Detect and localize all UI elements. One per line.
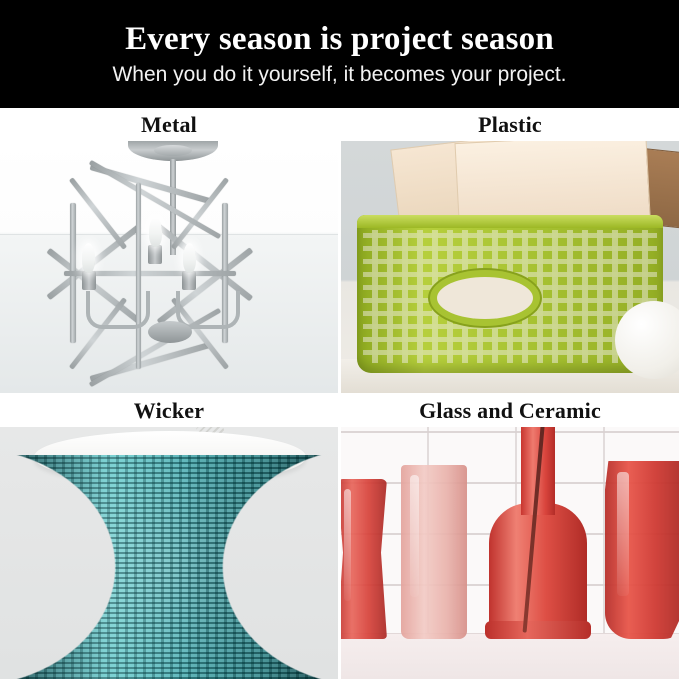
category-label-metal: Metal [0,108,338,141]
pink-cylinder-vase [401,465,467,639]
category-label-plastic: Plastic [341,108,679,141]
category-image-glass-ceramic [341,427,679,679]
category-label-glass-ceramic: Glass and Ceramic [341,394,679,427]
wicker-stool-shape [8,455,330,679]
category-image-metal [0,141,338,393]
bottle-body [489,503,587,639]
page-subtitle: When you do it yourself, it becomes your… [112,62,566,88]
category-image-wicker [0,427,338,679]
category-cell-glass-ceramic[interactable]: Glass and Ceramic [341,394,679,679]
basket-rim [357,215,663,228]
basket-handle-cutout [437,277,533,319]
red-bottle-vase [489,427,587,639]
red-tapered-vase [605,461,679,639]
page-title: Every season is project season [125,20,554,58]
red-flared-vase [341,479,387,639]
bulb-socket-left [82,271,96,290]
light-hub [148,321,192,343]
geometric-cage [36,163,262,385]
category-cell-metal[interactable]: Metal [0,108,338,393]
light-canopy [128,141,218,161]
header-banner: Every season is project season When you … [0,0,679,108]
infographic-page: Every season is project season When you … [0,0,679,679]
counter-surface [341,633,679,679]
category-cell-wicker[interactable]: Wicker [0,394,338,679]
light-arm-left [86,291,150,329]
category-cell-plastic[interactable]: Plastic [341,108,679,393]
wicker-shading [8,455,330,679]
candle-bulb-left [82,243,95,273]
glass-highlight [410,475,419,597]
candle-bulb-right [183,243,196,273]
category-grid: Metal [0,108,679,679]
wicker-stool [8,455,330,679]
bottle-foot [485,621,591,639]
glass-highlight [344,489,351,601]
bulb-socket-center [148,245,162,264]
candle-bulb-center [149,217,162,247]
category-image-plastic [341,141,679,393]
category-label-wicker: Wicker [0,394,338,427]
glass-highlight [617,472,629,597]
bulb-socket-right [182,271,196,290]
